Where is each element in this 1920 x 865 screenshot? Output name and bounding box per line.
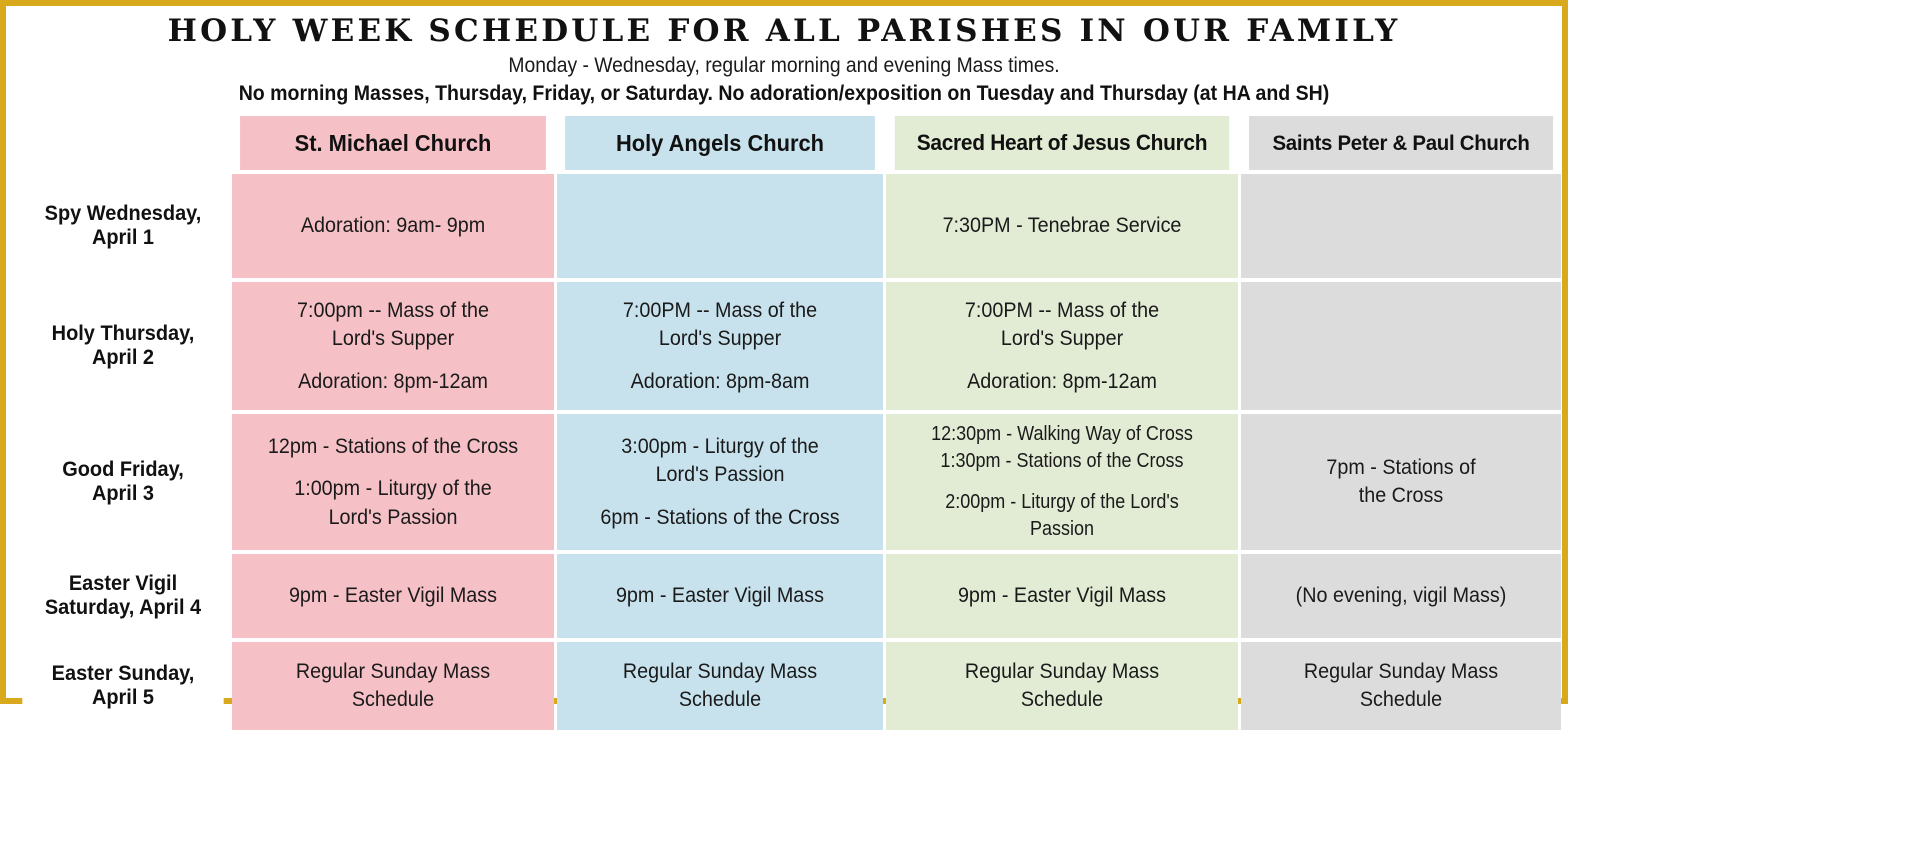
- cell-spacer: [236, 460, 550, 476]
- cell-vigil-holy-angels: 9pm - Easter Vigil Mass: [557, 554, 883, 638]
- row-label-line-1: Good Friday,: [62, 458, 184, 481]
- cell-line: the Cross: [1254, 483, 1547, 509]
- table-header: St. Michael Church Holy Angels Church Sa…: [17, 116, 1561, 170]
- cell-line: Passion: [907, 517, 1217, 542]
- row-label-holy-thursday: Holy Thursday, April 2: [22, 282, 223, 410]
- cell-line: Schedule: [571, 687, 870, 713]
- column-header-peter-paul: Saints Peter & Paul Church: [1249, 116, 1553, 170]
- cell-sunday-st-michael: Regular Sunday Mass Schedule: [232, 642, 554, 730]
- cell-line: 7:00PM -- Mass of the: [900, 298, 1223, 324]
- row-label-line-2: Saturday, April 4: [45, 596, 201, 619]
- cell-line: 7pm - Stations of: [1254, 455, 1547, 481]
- cell-line: (No evening, vigil Mass): [1254, 583, 1547, 609]
- cell-line: 9pm - Easter Vigil Mass: [245, 583, 540, 609]
- cell-thursday-peter-paul: [1241, 282, 1561, 410]
- cell-line: Lord's Supper: [571, 326, 870, 352]
- cell-line: 7:30PM - Tenebrae Service: [900, 213, 1223, 239]
- cell-spacer: [561, 489, 879, 505]
- cell-spacer: [890, 474, 1234, 490]
- cell-vigil-sacred-heart: 9pm - Easter Vigil Mass: [886, 554, 1238, 638]
- holy-week-poster: HOLY WEEK SCHEDULE FOR ALL PARISHES IN O…: [0, 0, 1568, 704]
- cell-line: 2:00pm - Liturgy of the Lord's: [907, 490, 1217, 515]
- cell-spy-holy-angels: [557, 174, 883, 278]
- cell-friday-st-michael: 12pm - Stations of the Cross 1:00pm - Li…: [232, 414, 554, 550]
- cell-line: Lord's Passion: [571, 462, 870, 488]
- cell-line: Regular Sunday Mass: [1254, 659, 1547, 685]
- cell-sunday-holy-angels: Regular Sunday Mass Schedule: [557, 642, 883, 730]
- cell-line: 12:30pm - Walking Way of Cross: [907, 422, 1217, 447]
- cell-spy-st-michael: Adoration: 9am- 9pm: [232, 174, 554, 278]
- header-blank-corner: [22, 116, 223, 170]
- cell-line: 3:00pm - Liturgy of the: [571, 434, 870, 460]
- row-label-line-2: April 1: [92, 226, 154, 249]
- cell-thursday-holy-angels: 7:00PM -- Mass of the Lord's Supper Ador…: [557, 282, 883, 410]
- cell-line: 7:00pm -- Mass of the: [245, 298, 540, 324]
- row-label-line-1: Spy Wednesday,: [45, 202, 202, 225]
- row-label-easter-vigil: Easter Vigil Saturday, April 4: [22, 554, 223, 638]
- cell-line: Lord's Supper: [900, 326, 1223, 352]
- cell-line: 1:30pm - Stations of the Cross: [907, 449, 1217, 474]
- cell-line: Schedule: [1254, 687, 1547, 713]
- cell-spy-sacred-heart: 7:30PM - Tenebrae Service: [886, 174, 1238, 278]
- cell-friday-peter-paul: 7pm - Stations of the Cross: [1241, 414, 1561, 550]
- cell-line: 9pm - Easter Vigil Mass: [571, 583, 870, 609]
- cell-spacer: [561, 353, 879, 369]
- cell-line: Adoration: 8pm-12am: [900, 369, 1223, 395]
- table-row: Spy Wednesday, April 1 Adoration: 9am- 9…: [17, 174, 1561, 278]
- table-row: Easter Vigil Saturday, April 4 9pm - Eas…: [17, 554, 1561, 638]
- schedule-table: St. Michael Church Holy Angels Church Sa…: [14, 112, 1564, 734]
- table-body: Spy Wednesday, April 1 Adoration: 9am- 9…: [17, 174, 1561, 730]
- row-label-easter-sunday: Easter Sunday, April 5: [22, 642, 223, 730]
- cell-thursday-sacred-heart: 7:00PM -- Mass of the Lord's Supper Ador…: [886, 282, 1238, 410]
- cell-line: Schedule: [245, 687, 540, 713]
- cell-line: Regular Sunday Mass: [900, 659, 1223, 685]
- poster-header: HOLY WEEK SCHEDULE FOR ALL PARISHES IN O…: [6, 6, 1562, 112]
- cell-sunday-peter-paul: Regular Sunday Mass Schedule: [1241, 642, 1561, 730]
- cell-line: Adoration: 8pm-8am: [571, 369, 870, 395]
- row-label-line-1: Easter Sunday,: [52, 662, 195, 685]
- subtitle-line-1: Monday - Wednesday, regular morning and …: [77, 54, 1490, 78]
- row-label-line-2: April 3: [92, 482, 154, 505]
- row-label-good-friday: Good Friday, April 3: [22, 414, 223, 550]
- cell-line: Regular Sunday Mass: [245, 659, 540, 685]
- cell-line: Schedule: [900, 687, 1223, 713]
- table-row: Good Friday, April 3 12pm - Stations of …: [17, 414, 1561, 550]
- cell-line: Regular Sunday Mass: [571, 659, 870, 685]
- cell-spy-peter-paul: [1241, 174, 1561, 278]
- cell-line: 6pm - Stations of the Cross: [571, 505, 870, 531]
- column-header-st-michael: St. Michael Church: [240, 116, 546, 170]
- cell-spacer: [236, 353, 550, 369]
- cell-line: 1:00pm - Liturgy of the: [245, 476, 540, 502]
- cell-line: 9pm - Easter Vigil Mass: [900, 583, 1223, 609]
- row-label-line-2: April 2: [92, 346, 154, 369]
- cell-vigil-peter-paul: (No evening, vigil Mass): [1241, 554, 1561, 638]
- table-row: Holy Thursday, April 2 7:00pm -- Mass of…: [17, 282, 1561, 410]
- cell-line: 12pm - Stations of the Cross: [245, 434, 540, 460]
- cell-vigil-st-michael: 9pm - Easter Vigil Mass: [232, 554, 554, 638]
- row-label-line-1: Holy Thursday,: [52, 322, 195, 345]
- subtitle-line-2: No morning Masses, Thursday, Friday, or …: [70, 82, 1498, 106]
- cell-line: 7:00PM -- Mass of the: [571, 298, 870, 324]
- row-label-line-1: Easter Vigil: [69, 572, 177, 595]
- cell-sunday-sacred-heart: Regular Sunday Mass Schedule: [886, 642, 1238, 730]
- header-row: St. Michael Church Holy Angels Church Sa…: [17, 116, 1561, 170]
- row-label-line-2: April 5: [92, 686, 154, 709]
- cell-friday-sacred-heart: 12:30pm - Walking Way of Cross 1:30pm - …: [886, 414, 1238, 550]
- page-title: HOLY WEEK SCHEDULE FOR ALL PARISHES IN O…: [16, 14, 1552, 48]
- column-header-holy-angels: Holy Angels Church: [565, 116, 875, 170]
- cell-line: Lord's Passion: [245, 505, 540, 531]
- table-row: Easter Sunday, April 5 Regular Sunday Ma…: [17, 642, 1561, 730]
- cell-spacer: [890, 353, 1234, 369]
- cell-friday-holy-angels: 3:00pm - Liturgy of the Lord's Passion 6…: [557, 414, 883, 550]
- cell-line: Lord's Supper: [245, 326, 540, 352]
- cell-line: Adoration: 8pm-12am: [245, 369, 540, 395]
- cell-line: Adoration: 9am- 9pm: [245, 213, 540, 239]
- column-header-sacred-heart: Sacred Heart of Jesus Church: [895, 116, 1229, 170]
- row-label-spy-wednesday: Spy Wednesday, April 1: [22, 174, 223, 278]
- cell-thursday-st-michael: 7:00pm -- Mass of the Lord's Supper Ador…: [232, 282, 554, 410]
